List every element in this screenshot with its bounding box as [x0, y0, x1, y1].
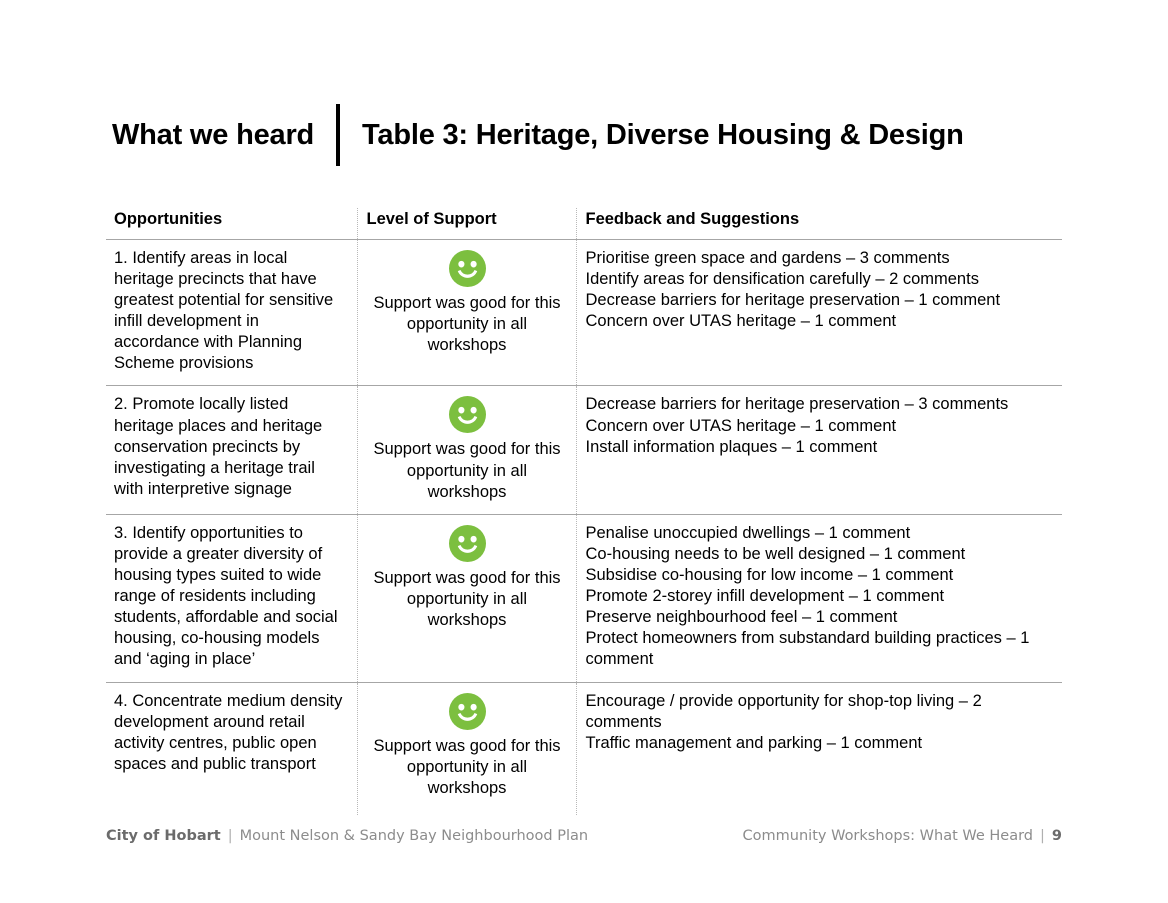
support-label: Support was good for this opportunity in… — [367, 293, 568, 356]
table-row: 3. Identify opportunities to provide a g… — [106, 514, 1062, 682]
feedback-cell: Penalise unoccupied dwellings – 1 commen… — [576, 514, 1062, 682]
support-label: Support was good for this opportunity in… — [367, 439, 568, 502]
feedback-cell: Decrease barriers for heritage preservat… — [576, 386, 1062, 514]
smiley-face-icon — [449, 525, 486, 562]
feedback-item: Identify areas for densification careful… — [586, 269, 1055, 290]
smiley-face-icon — [449, 693, 486, 730]
page-title-left: What we heard — [112, 121, 336, 150]
footer-left: City of Hobart | Mount Nelson & Sandy Ba… — [106, 828, 588, 844]
feedback-item: Install information plaques – 1 comment — [586, 437, 1055, 458]
footer-separator-right: | — [1033, 828, 1052, 844]
feedback-item: Concern over UTAS heritage – 1 comment — [586, 416, 1055, 437]
opportunity-cell: 1. Identify areas in local heritage prec… — [106, 239, 357, 386]
feedback-item: Decrease barriers for heritage preservat… — [586, 290, 1055, 311]
feedback-item: Decrease barriers for heritage preservat… — [586, 394, 1055, 415]
feedback-cell: Prioritise green space and gardens – 3 c… — [576, 239, 1062, 386]
level-of-support-cell: Support was good for this opportunity in… — [357, 386, 576, 514]
smiley-face-icon — [449, 396, 486, 433]
opportunity-text: 3. Identify opportunities to provide a g… — [114, 523, 349, 671]
feedback-item: Protect homeowners from substandard buil… — [586, 628, 1055, 670]
support-label: Support was good for this opportunity in… — [367, 568, 568, 631]
opportunity-text: 1. Identify areas in local heritage prec… — [114, 248, 349, 375]
feedback-item: Encourage / provide opportunity for shop… — [586, 691, 1055, 733]
table-header-row: Opportunities Level of Support Feedback … — [106, 208, 1062, 239]
feedback-list: Decrease barriers for heritage preservat… — [586, 394, 1055, 457]
opportunity-text: 2. Promote locally listed heritage place… — [114, 394, 349, 500]
feedback-item: Concern over UTAS heritage – 1 comment — [586, 311, 1055, 332]
level-of-support-cell: Support was good for this opportunity in… — [357, 514, 576, 682]
table-body: 1. Identify areas in local heritage prec… — [106, 239, 1062, 815]
feedback-item: Subsidise co-housing for low income – 1 … — [586, 565, 1055, 586]
column-header-feedback: Feedback and Suggestions — [576, 208, 1062, 239]
opportunity-cell: 3. Identify opportunities to provide a g… — [106, 514, 357, 682]
feedback-item: Penalise unoccupied dwellings – 1 commen… — [586, 523, 1055, 544]
page-title-right: Table 3: Heritage, Diverse Housing & Des… — [340, 121, 964, 150]
table-row: 4. Concentrate medium density developmen… — [106, 682, 1062, 815]
footer-section-title: Community Workshops: What We Heard — [743, 828, 1033, 844]
column-header-level-of-support: Level of Support — [357, 208, 576, 239]
opportunity-cell: 4. Concentrate medium density developmen… — [106, 682, 357, 815]
level-of-support-cell: Support was good for this opportunity in… — [357, 682, 576, 815]
page-footer: City of Hobart | Mount Nelson & Sandy Ba… — [106, 828, 1062, 844]
support-label: Support was good for this opportunity in… — [367, 736, 568, 799]
feedback-item: Prioritise green space and gardens – 3 c… — [586, 248, 1055, 269]
footer-document-title: Mount Nelson & Sandy Bay Neighbourhood P… — [240, 828, 588, 844]
feedback-list: Encourage / provide opportunity for shop… — [586, 691, 1055, 754]
footer-right: Community Workshops: What We Heard | 9 — [743, 828, 1062, 844]
feedback-item: Traffic management and parking – 1 comme… — [586, 733, 1055, 754]
column-header-opportunities: Opportunities — [106, 208, 357, 239]
feedback-cell: Encourage / provide opportunity for shop… — [576, 682, 1062, 815]
feedback-list: Prioritise green space and gardens – 3 c… — [586, 248, 1055, 332]
page-title: What we heard Table 3: Heritage, Diverse… — [112, 104, 964, 166]
opportunity-cell: 2. Promote locally listed heritage place… — [106, 386, 357, 514]
footer-organisation: City of Hobart — [106, 828, 221, 844]
smiley-face-icon — [449, 250, 486, 287]
feedback-item: Co-housing needs to be well designed – 1… — [586, 544, 1055, 565]
feedback-item: Promote 2-storey infill development – 1 … — [586, 586, 1055, 607]
heritage-housing-table: Opportunities Level of Support Feedback … — [106, 208, 1062, 815]
table-row: 1. Identify areas in local heritage prec… — [106, 239, 1062, 386]
feedback-list: Penalise unoccupied dwellings – 1 commen… — [586, 523, 1055, 671]
level-of-support-cell: Support was good for this opportunity in… — [357, 239, 576, 386]
opportunity-text: 4. Concentrate medium density developmen… — [114, 691, 349, 775]
table-row: 2. Promote locally listed heritage place… — [106, 386, 1062, 514]
footer-page-number: 9 — [1052, 828, 1062, 844]
document-page: What we heard Table 3: Heritage, Diverse… — [0, 0, 1168, 903]
footer-separator-left: | — [221, 828, 240, 844]
feedback-item: Preserve neighbourhood feel – 1 comment — [586, 607, 1055, 628]
